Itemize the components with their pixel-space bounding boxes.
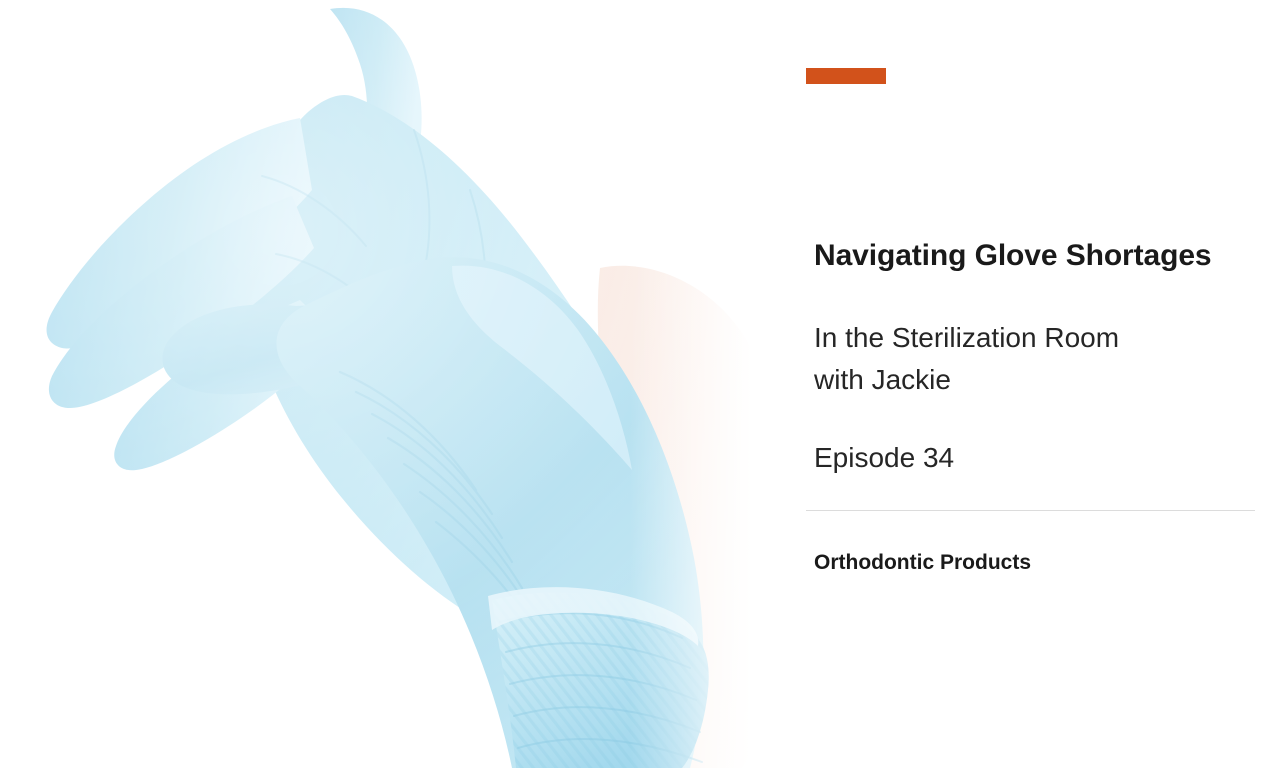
subtitle-line-2: with Jackie <box>814 359 1234 401</box>
slide-text-panel: Navigating Glove Shortages In the Steril… <box>806 0 1280 768</box>
subtitle-line-1: In the Sterilization Room <box>814 317 1234 359</box>
episode-label: Episode 34 <box>814 440 1234 476</box>
presentation-slide: Navigating Glove Shortages In the Steril… <box>0 0 1280 768</box>
glove-photo <box>0 0 800 768</box>
slide-title: Navigating Glove Shortages <box>814 238 1280 273</box>
accent-bar <box>806 68 886 84</box>
brand-name: Orthodontic Products <box>814 549 1234 576</box>
horizontal-divider <box>806 510 1255 511</box>
slide-subtitle: In the Sterilization Room with Jackie <box>814 317 1234 401</box>
